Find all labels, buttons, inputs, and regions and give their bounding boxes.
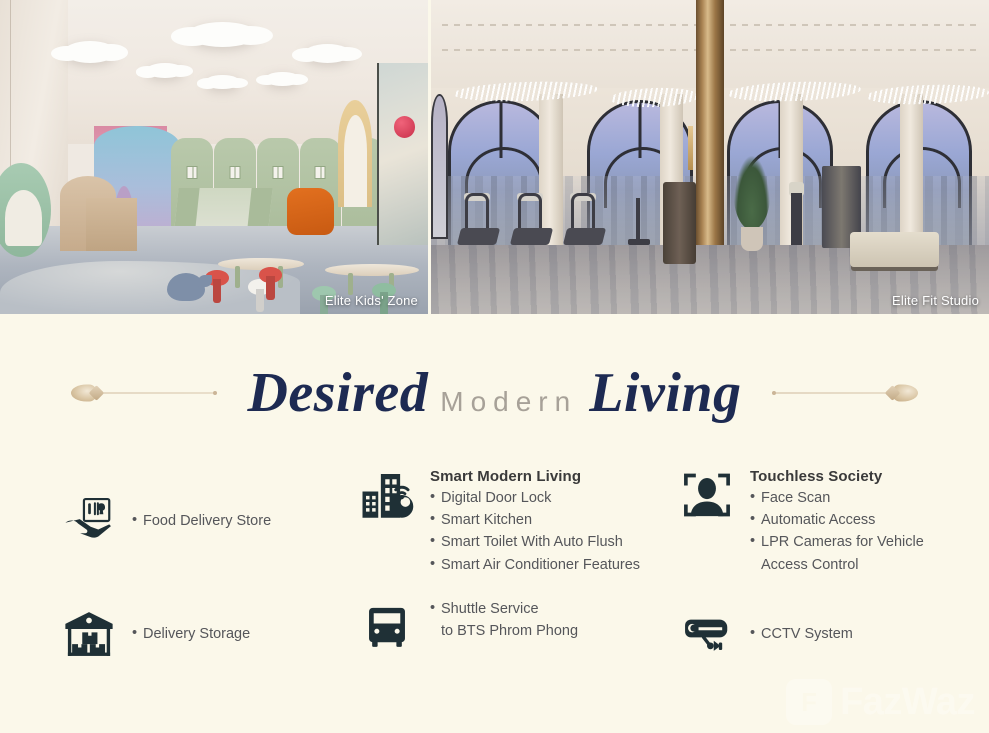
feature-body: Food Delivery Store	[132, 510, 271, 532]
feature-body: Touchless Society Face Scan Automatic Ac…	[750, 466, 924, 576]
section-title-band: Desired Modern Living	[0, 338, 989, 448]
feature-delivery-storage[interactable]: Delivery Storage	[0, 582, 330, 678]
kids-zone-caption: Elite Kids' Zone	[325, 293, 418, 308]
list-item: Delivery Storage	[132, 623, 250, 645]
face-scan-icon	[678, 466, 736, 524]
list-item: Automatic Access	[750, 509, 924, 531]
feature-touchless-society[interactable]: Touchless Society Face Scan Automatic Ac…	[660, 460, 989, 582]
shuttle-bus-icon	[358, 596, 416, 654]
feature-items: CCTV System	[750, 623, 853, 645]
list-item: Shuttle Service	[430, 598, 578, 620]
ornament-right-icon	[772, 383, 918, 403]
list-item-continuation: to BTS Phrom Phong	[430, 620, 578, 642]
gallery-row: Elite Kids' Zone	[0, 0, 989, 314]
list-item: Face Scan	[750, 487, 924, 509]
cctv-camera-icon	[678, 605, 736, 663]
feature-title: Smart Modern Living	[430, 468, 640, 485]
kids-zone-image[interactable]: Elite Kids' Zone	[0, 0, 428, 314]
fitness-studio-render	[431, 0, 989, 314]
feature-smart-modern-living[interactable]: Smart Modern Living Digital Door Lock Sm…	[330, 460, 660, 582]
feature-items: Food Delivery Store	[132, 510, 271, 532]
list-item: Smart Air Conditioner Features	[430, 554, 640, 576]
feature-body: CCTV System	[750, 623, 853, 645]
feature-body: Delivery Storage	[132, 623, 250, 645]
fazwaz-watermark: F FazWaz	[786, 679, 975, 725]
feature-items: Digital Door Lock Smart Kitchen Smart To…	[430, 487, 640, 576]
feature-body: Smart Modern Living Digital Door Lock Sm…	[430, 466, 640, 576]
list-item: Smart Toilet With Auto Flush	[430, 531, 640, 553]
list-item: CCTV System	[750, 623, 853, 645]
list-item: Food Delivery Store	[132, 510, 271, 532]
feature-cctv-system[interactable]: CCTV System	[660, 582, 989, 678]
watermark-logo-icon: F	[786, 679, 832, 725]
feature-body: Shuttle Service to BTS Phrom Phong	[430, 596, 578, 642]
list-item: Digital Door Lock	[430, 487, 640, 509]
amenities-grid: Food Delivery Store	[0, 448, 989, 678]
feature-items: Delivery Storage	[132, 623, 250, 645]
delivery-storage-warehouse-icon	[60, 605, 118, 663]
list-item: LPR Cameras for Vehicle	[750, 531, 924, 553]
food-delivery-tray-icon	[60, 492, 118, 550]
feature-title: Touchless Society	[750, 468, 924, 485]
title-word-living: Living	[589, 361, 741, 425]
kids-zone-render	[0, 0, 428, 314]
smart-building-signal-icon	[358, 466, 416, 524]
fitness-studio-caption: Elite Fit Studio	[892, 293, 979, 308]
feature-shuttle-service[interactable]: Shuttle Service to BTS Phrom Phong	[330, 582, 660, 678]
title-word-modern: Modern	[440, 386, 577, 418]
feature-items: Shuttle Service to BTS Phrom Phong	[430, 598, 578, 642]
fitness-studio-image[interactable]: Elite Fit Studio	[431, 0, 989, 314]
list-item-continuation: Access Control	[750, 554, 924, 576]
list-item: Smart Kitchen	[430, 509, 640, 531]
watermark-text: FazWaz	[840, 681, 975, 724]
title-word-desired: Desired	[247, 361, 428, 425]
ornament-left-icon	[71, 383, 217, 403]
page-title: Desired Modern Living	[247, 361, 741, 425]
feature-food-delivery-store[interactable]: Food Delivery Store	[0, 460, 330, 582]
feature-items: Face Scan Automatic Access LPR Cameras f…	[750, 487, 924, 576]
